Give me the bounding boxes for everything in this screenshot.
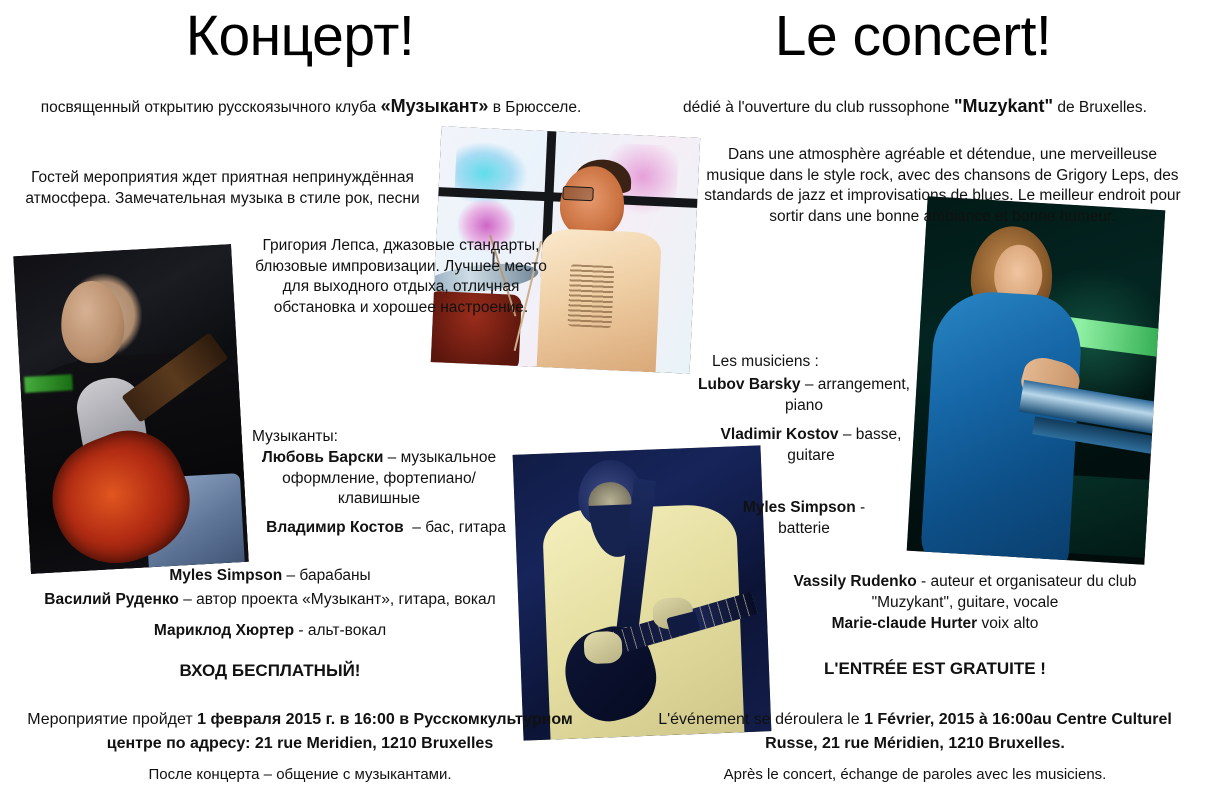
musician-fr-1: Vladimir Kostov – basse, guitare: [710, 425, 912, 466]
musician-ru-4-name: Мариклод Хюртер: [154, 622, 294, 639]
musician-ru-1-role: – бас, гитара: [408, 519, 506, 536]
musician-ru-0-name: Любовь Барски: [262, 449, 383, 466]
event-ru-line1-bold: 1 февраля 2015 г. в 16:00 в Русском: [197, 711, 480, 728]
musician-fr-2-name: Myles Simpson: [743, 499, 856, 516]
musician-fr-3-name: Vassily Rudenko: [794, 573, 917, 590]
subtitle-fr-before: dédié à l'ouverture du club russophone: [683, 99, 954, 116]
subtitle-ru: посвященный открытию русскоязычного клуб…: [36, 95, 586, 119]
subtitle-fr-club: "Muzykant": [954, 96, 1053, 116]
musician-ru-4: Мариклод Хюртер - альт-вокал: [0, 621, 540, 642]
musician-fr-4-role: voix alto: [977, 615, 1038, 632]
intro-ru-column: Григория Лепса, джазовые стандарты, блюз…: [240, 236, 562, 318]
musician-ru-4-role: - альт-вокал: [294, 622, 386, 639]
concert-poster: Концерт! посвященный открытию русскоязыч…: [0, 0, 1213, 798]
musician-fr-4-name: Marie-claude Hurter: [832, 615, 978, 632]
musician-ru-2-name: Myles Simpson: [169, 567, 282, 584]
photo-guitarist-red: [13, 244, 248, 574]
event-fr-line1-bold: 1 Février, 2015 à 16:00: [864, 711, 1033, 728]
subtitle-ru-after: в Брюсселе.: [488, 99, 581, 116]
event-ru-line3: После концерта – общение с музыкантами.: [0, 765, 600, 785]
event-ru: Мероприятие пройдет 1 февраля 2015 г. в …: [0, 708, 600, 756]
musician-fr-4: Marie-claude Hurter voix alto: [700, 614, 1170, 635]
musician-ru-3-name: Василий Руденко: [44, 591, 179, 608]
musician-ru-3-role: – автор проекта «Музыкант», гитара, вока…: [179, 591, 496, 608]
event-ru-line1-normal: Мероприятие пройдет: [27, 711, 197, 728]
musician-fr-0: Lubov Barsky – arrangement, piano: [690, 375, 918, 416]
musician-fr-2: Myles Simpson - batterie: [730, 498, 878, 539]
event-fr-line1-normal: L'événement se déroulera le: [658, 711, 864, 728]
musician-fr-3: Vassily Rudenko - auteur et organisateur…: [760, 572, 1170, 613]
intro-ru-left: Гостей мероприятия ждет приятная неприну…: [10, 168, 435, 209]
free-entry-ru: ВХОД БЕСПЛАТНЫЙ!: [0, 660, 540, 683]
musician-ru-1: Владимир Костов – бас, гитара: [246, 518, 526, 539]
musicians-heading-fr: Les musiciens :: [712, 352, 1012, 373]
subtitle-fr: dédié à l'ouverture du club russophone "…: [630, 95, 1200, 119]
event-fr-line3: Après le concert, échange de paroles ave…: [640, 765, 1190, 785]
photo-pianist: [907, 196, 1166, 564]
musician-fr-0-role: – arrangement, piano: [785, 376, 914, 414]
free-entry-fr: L'ENTRÉE EST GRATUITE !: [700, 658, 1170, 681]
musicians-heading-ru: Музыканты:: [252, 427, 552, 448]
subtitle-ru-before: посвященный открытию русскоязычного клуб…: [41, 99, 381, 116]
musician-ru-2-role: – барабаны: [282, 567, 370, 584]
subtitle-ru-club: «Музыкант»: [381, 96, 489, 116]
page-title-ru: Концерт!: [0, 8, 600, 65]
event-fr: L'événement se déroulera le 1 Février, 2…: [640, 708, 1190, 756]
musician-fr-1-name: Vladimir Kostov: [721, 426, 839, 443]
page-title-fr: Le concert!: [613, 8, 1213, 65]
musician-ru-0: Любовь Барски – музыкальное оформление, …: [244, 448, 514, 510]
musician-ru-2: Myles Simpson – барабаны: [30, 566, 510, 587]
musician-ru-1-name: Владимир Костов: [266, 519, 408, 536]
subtitle-fr-after: de Bruxelles.: [1053, 99, 1147, 116]
musician-ru-3: Василий Руденко – автор проекта «Музыкан…: [0, 590, 540, 611]
musician-fr-0-name: Lubov Barsky: [698, 376, 801, 393]
intro-fr: Dans une atmosphère agréable et détendue…: [700, 145, 1185, 227]
photo-guitarist-blue: [513, 445, 772, 740]
